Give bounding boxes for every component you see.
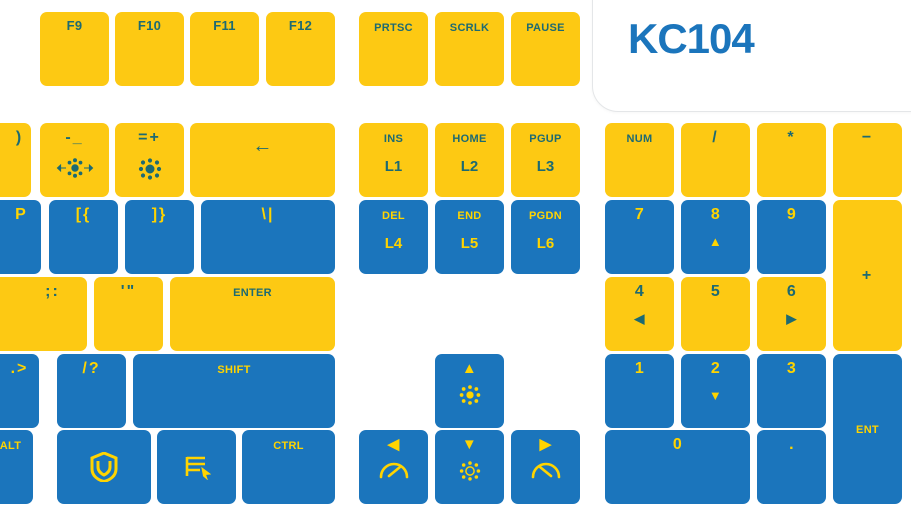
- key-minus[interactable]: -_: [40, 123, 109, 197]
- key-numlock-label: Num: [627, 130, 653, 146]
- key-f12-label: F12: [289, 19, 312, 32]
- brand-logo-text: KC104: [628, 18, 754, 60]
- brightness-up-icon: [135, 157, 165, 181]
- key-home-layer-label: L2: [461, 159, 479, 174]
- key-numpad-divide[interactable]: /: [681, 123, 750, 197]
- key-numpad-4-label: 4: [635, 284, 644, 300]
- key-numpad-4[interactable]: 4 ◀: [605, 277, 674, 351]
- key-numpad-1-label: 1: [635, 361, 644, 377]
- key-numpad-6[interactable]: 6 ▶: [757, 277, 826, 351]
- key-pageup-layer-label: L3: [537, 159, 555, 174]
- key-numpad-decimal[interactable]: .: [757, 430, 826, 504]
- key-numpad-1[interactable]: 1: [605, 354, 674, 428]
- key-period[interactable]: .>: [0, 354, 39, 428]
- key-numpad-divide-label: /: [712, 130, 718, 146]
- key-end-layer-label: L5: [461, 236, 479, 251]
- key-arrow-up[interactable]: ▲: [435, 354, 504, 428]
- key-f11-label: F11: [213, 19, 236, 32]
- key-numpad-0-label: 0: [673, 437, 682, 453]
- key-pagedown[interactable]: PgDn L6: [511, 200, 580, 274]
- key-f11[interactable]: F11: [190, 12, 259, 86]
- key-backslash-label: \|: [262, 207, 275, 223]
- key-parenthesis-close-label: ): [16, 130, 23, 146]
- key-pagedown-layer-label: L6: [537, 236, 555, 251]
- key-arrow-left[interactable]: ◀: [359, 430, 428, 504]
- keyboard-layout-diagram: KC104 F9 F10 F11 F12 PrtSc ScrLk Pause )…: [0, 0, 911, 515]
- key-printscreen[interactable]: PrtSc: [359, 12, 428, 86]
- key-numpad-0[interactable]: 0: [605, 430, 750, 504]
- key-parenthesis-close[interactable]: ): [0, 123, 31, 197]
- key-arrow-right-icon: ▶: [540, 437, 552, 452]
- key-minus-label: -_: [65, 130, 83, 146]
- key-arrow-down-icon: ▼: [462, 437, 477, 452]
- key-pause-label: Pause: [526, 19, 565, 35]
- key-numpad-minus-label: −: [862, 130, 873, 146]
- key-numpad-8[interactable]: 8 ▲: [681, 200, 750, 274]
- key-semicolon-label: ;:: [45, 284, 60, 300]
- key-f12[interactable]: F12: [266, 12, 335, 86]
- key-equals-label: =+: [138, 130, 161, 146]
- key-bracket-left-label: [{: [76, 207, 92, 223]
- key-numpad-3[interactable]: 3: [757, 354, 826, 428]
- key-pause[interactable]: Pause: [511, 12, 580, 86]
- key-arrow-down[interactable]: ▼: [435, 430, 504, 504]
- key-f9-label: F9: [67, 19, 83, 32]
- rgb-width-decrease-icon: [55, 157, 95, 179]
- key-numpad-2-arrow-icon: ▼: [709, 389, 722, 402]
- key-f10[interactable]: F10: [115, 12, 184, 86]
- key-pagedown-label: PgDn: [529, 207, 562, 223]
- key-slash[interactable]: /?: [57, 354, 126, 428]
- key-delete-layer-label: L4: [385, 236, 403, 251]
- key-shift-right-label: Shift: [217, 361, 250, 377]
- rgb-brightness-up-icon: [456, 383, 484, 407]
- key-numpad-enter-label: Ent: [856, 421, 879, 437]
- key-ctrl-right[interactable]: Ctrl: [242, 430, 335, 504]
- key-numpad-minus[interactable]: −: [833, 123, 902, 197]
- key-arrow-left-icon: ◀: [388, 437, 400, 452]
- key-pageup[interactable]: PgUp L3: [511, 123, 580, 197]
- key-enter-label: Enter: [233, 284, 272, 300]
- key-numpad-plus[interactable]: +: [833, 200, 902, 351]
- key-arrow-up-icon: ▲: [462, 361, 477, 376]
- key-super[interactable]: [57, 430, 151, 504]
- key-bracket-right[interactable]: ]}: [125, 200, 194, 274]
- context-menu-icon: [183, 454, 211, 480]
- key-numpad-2-label: 2: [711, 361, 720, 377]
- key-p[interactable]: P: [0, 200, 41, 274]
- key-delete-label: Del: [382, 207, 405, 223]
- key-alt-right-label: Alt: [0, 437, 21, 453]
- key-insert-label: Ins: [384, 130, 403, 146]
- key-arrow-right[interactable]: ▶: [511, 430, 580, 504]
- key-alt-right[interactable]: Alt: [0, 430, 33, 504]
- key-numpad-8-arrow-icon: ▲: [709, 235, 722, 248]
- key-end-label: End: [457, 207, 481, 223]
- key-backslash[interactable]: \|: [201, 200, 335, 274]
- key-backspace-arrow-icon: ←: [252, 136, 272, 156]
- key-numpad-8-label: 8: [711, 207, 720, 223]
- key-numlock[interactable]: Num: [605, 123, 674, 197]
- key-numpad-7-label: 7: [635, 207, 644, 223]
- key-numpad-6-label: 6: [787, 284, 796, 300]
- key-printscreen-label: PrtSc: [374, 19, 413, 35]
- key-f10-label: F10: [138, 19, 161, 32]
- key-equals[interactable]: =+: [115, 123, 184, 197]
- key-shift-right[interactable]: Shift: [133, 354, 335, 428]
- key-numpad-decimal-label: .: [789, 437, 794, 453]
- key-backspace[interactable]: ←: [190, 123, 335, 197]
- key-p-label: P: [15, 207, 28, 223]
- key-numpad-enter[interactable]: Ent: [833, 354, 902, 504]
- key-insert[interactable]: Ins L1: [359, 123, 428, 197]
- key-f9[interactable]: F9: [40, 12, 109, 86]
- key-home[interactable]: Home L2: [435, 123, 504, 197]
- key-bracket-right-label: ]}: [152, 207, 168, 223]
- key-numpad-5-label: 5: [711, 284, 720, 300]
- rgb-speed-down-icon: [378, 459, 410, 481]
- key-slash-label: /?: [82, 361, 100, 377]
- key-home-label: Home: [452, 130, 486, 146]
- key-menu[interactable]: [157, 430, 236, 504]
- key-numpad-7[interactable]: 7: [605, 200, 674, 274]
- key-numpad-5[interactable]: 5: [681, 277, 750, 351]
- key-bracket-left[interactable]: [{: [49, 200, 118, 274]
- key-insert-layer-label: L1: [385, 159, 403, 174]
- key-numpad-3-label: 3: [787, 361, 796, 377]
- shield-logo-icon: [90, 452, 118, 482]
- rgb-speed-up-icon: [530, 459, 562, 481]
- key-ctrl-right-label: Ctrl: [273, 437, 304, 453]
- key-period-label: .>: [11, 361, 29, 377]
- key-quote-label: '": [121, 284, 136, 300]
- key-enter[interactable]: Enter: [170, 277, 335, 351]
- key-numpad-4-arrow-icon: ◀: [634, 312, 644, 325]
- key-numpad-9[interactable]: 9: [757, 200, 826, 274]
- key-numpad-2[interactable]: 2 ▼: [681, 354, 750, 428]
- key-numpad-plus-label: +: [862, 268, 873, 284]
- key-numpad-9-label: 9: [787, 207, 796, 223]
- key-scrolllock-label: ScrLk: [450, 19, 489, 35]
- key-scrolllock[interactable]: ScrLk: [435, 12, 504, 86]
- key-delete[interactable]: Del L4: [359, 200, 428, 274]
- key-numpad-multiply[interactable]: *: [757, 123, 826, 197]
- key-semicolon[interactable]: ;:: [18, 277, 87, 351]
- key-numpad-multiply-label: *: [787, 130, 795, 146]
- key-quote[interactable]: '": [94, 277, 163, 351]
- key-numpad-6-arrow-icon: ▶: [786, 312, 796, 325]
- key-pageup-label: PgUp: [529, 130, 561, 146]
- rgb-brightness-down-icon: [456, 459, 484, 483]
- key-end[interactable]: End L5: [435, 200, 504, 274]
